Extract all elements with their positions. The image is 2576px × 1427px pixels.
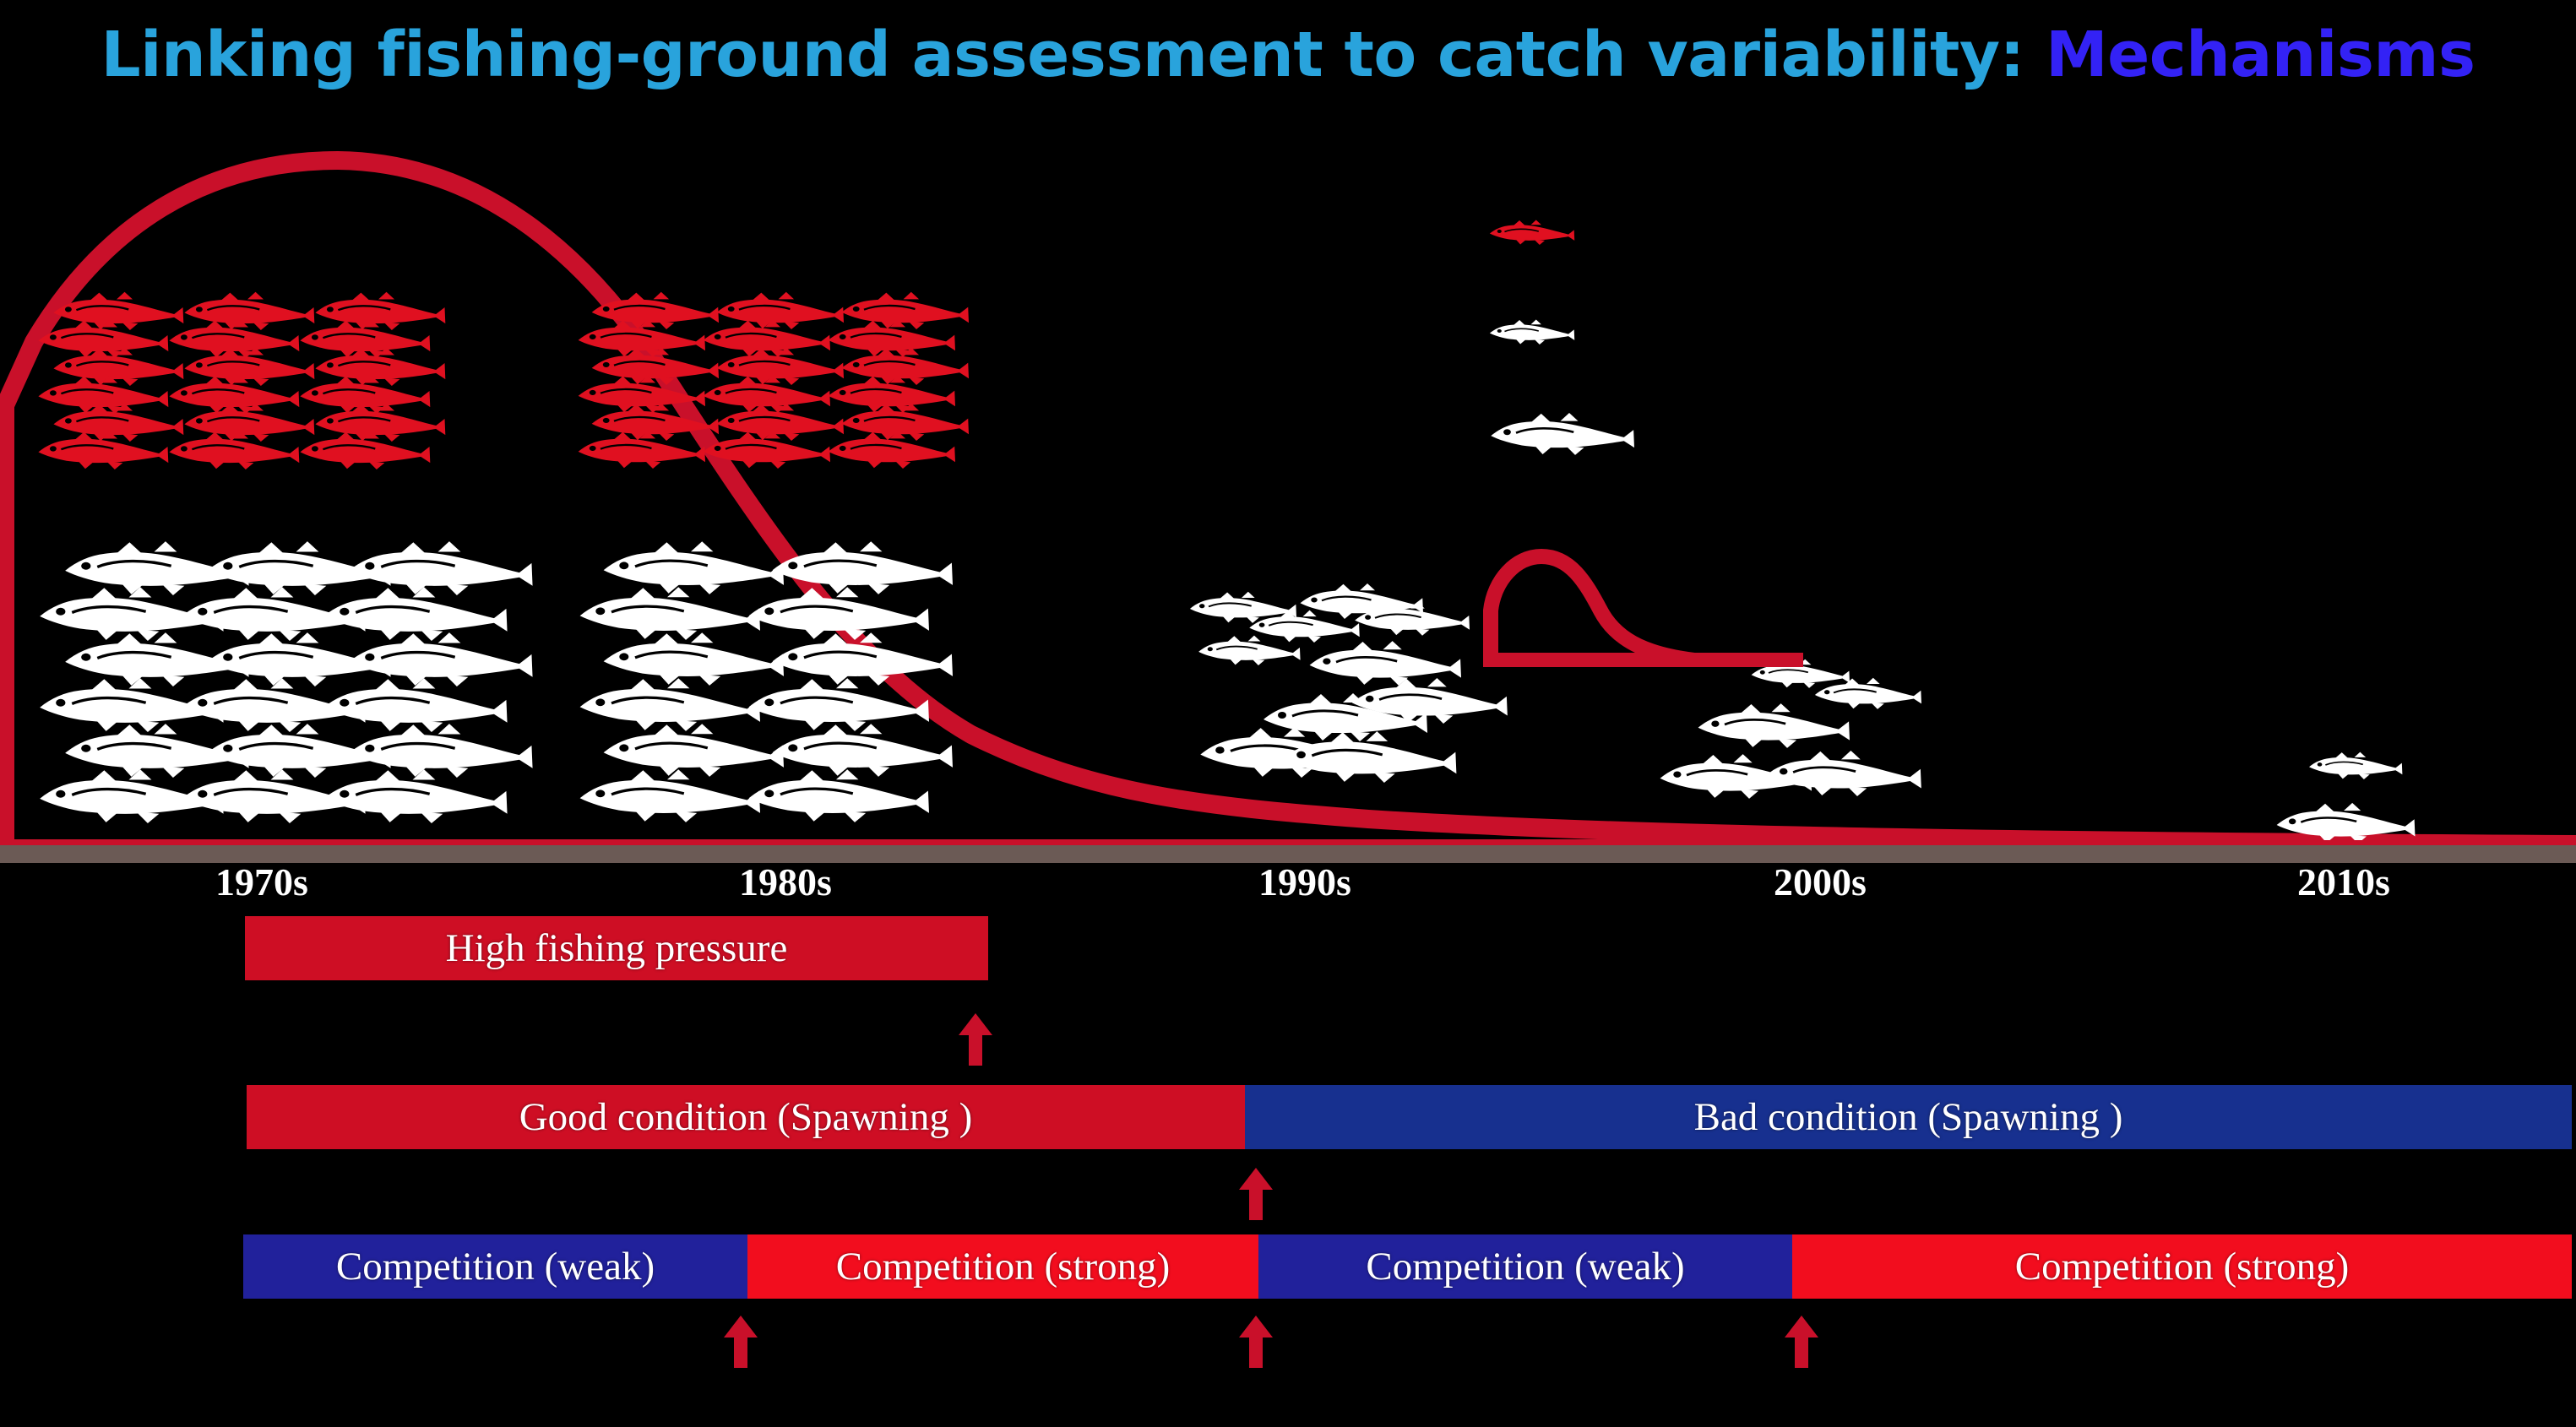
bar-label: Competition (weak)	[1366, 1244, 1684, 1289]
row-competition: Competition (weak) Competition (strong) …	[0, 1234, 2576, 1299]
fish-group-1980s-red	[574, 291, 912, 460]
fish-icon	[699, 431, 830, 469]
fish-icon	[1761, 750, 1921, 796]
fish-group-1990s-white	[1140, 583, 1461, 819]
bar-label: Competition (strong)	[2015, 1244, 2350, 1289]
decade-label-row: 1970s 1980s 1990s 2000s 2010s	[0, 860, 2576, 919]
fish-icon	[743, 768, 929, 822]
fish-icon	[165, 431, 300, 469]
fish-icon	[1347, 677, 1508, 724]
fish-icon	[574, 768, 760, 822]
row-spawning-condition: Good condition (Spawning ) Bad condition…	[0, 1085, 2576, 1149]
fish-icon	[574, 431, 705, 469]
fish-icon	[296, 431, 431, 469]
bar-high-fishing-pressure[interactable]: High fishing pressure	[245, 916, 988, 980]
bar-good-condition-spawning[interactable]: Good condition (Spawning )	[247, 1085, 1245, 1149]
fish-group-2010s-white	[2272, 751, 2441, 853]
legend-white-fish-large-icon	[1486, 412, 1634, 455]
decade-label: 1970s	[215, 860, 308, 904]
fish-group-2000s-white	[1655, 659, 1917, 827]
arrow-competition-2	[1239, 1316, 1273, 1368]
legend-white-fish-small-icon	[1486, 319, 1575, 345]
decade-label: 2000s	[1774, 860, 1867, 904]
fish-icon	[34, 431, 169, 469]
bar-label: Competition (strong)	[836, 1244, 1171, 1289]
fish-group-1980s-white	[574, 540, 971, 819]
arrow-fishing-pressure	[959, 1013, 992, 1066]
fish-icon	[2306, 751, 2403, 779]
fish-group-1970s-red	[34, 291, 431, 460]
row-fishing-pressure: High fishing pressure	[0, 916, 2576, 980]
fish-icon	[1195, 635, 1301, 665]
fish-icon	[1275, 730, 1457, 783]
bar-bad-condition-spawning[interactable]: Bad condition (Spawning )	[1245, 1085, 2572, 1149]
abundance-chart	[0, 127, 2576, 849]
fish-icon	[1693, 703, 1850, 748]
bar-competition-strong-2[interactable]: Competition (strong)	[1792, 1234, 2572, 1299]
fish-icon	[1351, 601, 1470, 636]
title-accent-text: Mechanisms	[2046, 19, 2475, 91]
fish-icon	[318, 768, 508, 823]
inset-legend-fish	[1486, 220, 1706, 532]
decade-label: 2010s	[2297, 860, 2390, 904]
bar-competition-weak-2[interactable]: Competition (weak)	[1258, 1234, 1792, 1299]
title-main-text: Linking fishing-ground assessment to cat…	[101, 19, 2046, 91]
bar-competition-strong-1[interactable]: Competition (strong)	[747, 1234, 1258, 1299]
bar-label: Competition (weak)	[336, 1244, 655, 1289]
bar-competition-weak-1[interactable]: Competition (weak)	[243, 1234, 747, 1299]
decade-label: 1990s	[1258, 860, 1351, 904]
legend-red-fish-icon	[1486, 220, 1575, 245]
arrow-competition-3	[1785, 1316, 1818, 1368]
bar-label: High fishing pressure	[446, 925, 788, 971]
decade-label: 1980s	[739, 860, 832, 904]
fish-icon	[824, 431, 955, 469]
inset-mini-curve	[1482, 545, 1803, 667]
fish-group-1970s-white	[34, 540, 490, 819]
bar-label: Bad condition (Spawning )	[1694, 1094, 2123, 1140]
arrow-competition-1	[724, 1316, 758, 1368]
fish-icon	[2272, 802, 2416, 844]
page-title: Linking fishing-ground assessment to cat…	[0, 19, 2576, 91]
slide-canvas: Linking fishing-ground assessment to cat…	[0, 0, 2576, 1427]
arrow-spawning-condition	[1239, 1168, 1273, 1220]
bar-label: Good condition (Spawning )	[519, 1094, 973, 1140]
